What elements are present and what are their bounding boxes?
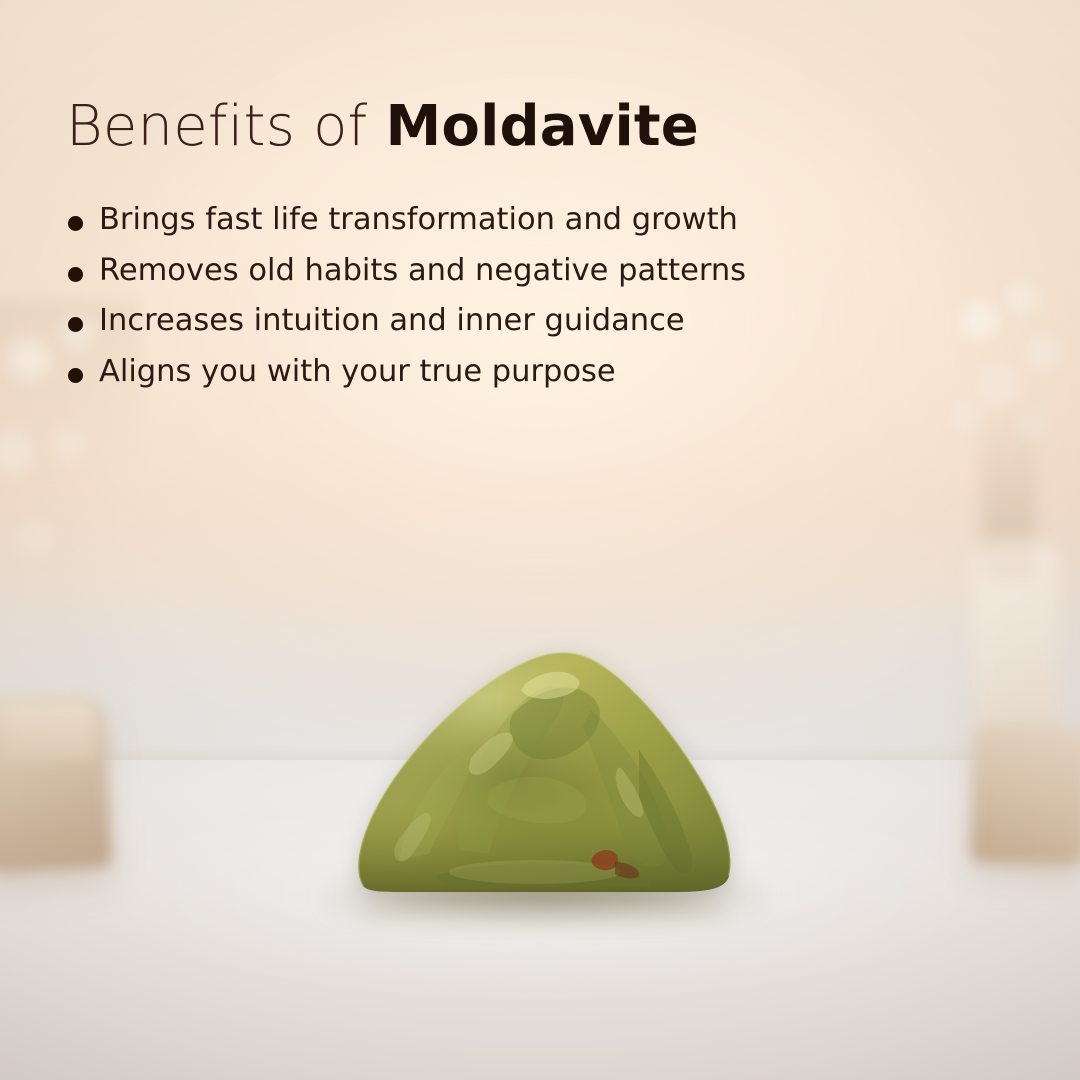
benefit-text: Brings fast life transformation and grow…	[99, 205, 738, 236]
list-item: Increases intuition and inner guidance	[68, 306, 746, 337]
benefit-text: Aligns you with your true purpose	[99, 357, 616, 388]
list-item: Aligns you with your true purpose	[68, 357, 746, 388]
bullet-dot-icon	[68, 368, 83, 383]
moldavite-stone	[339, 640, 749, 900]
bullet-dot-icon	[68, 216, 83, 231]
bullet-dot-icon	[68, 317, 83, 332]
marketing-image-canvas: Benefits of Moldavite Brings fast life t…	[0, 0, 1080, 1080]
headline-emphasis: Moldavite	[385, 94, 699, 159]
benefit-text: Increases intuition and inner guidance	[99, 306, 685, 337]
moldavite-stone-group	[339, 640, 749, 910]
benefit-text: Removes old habits and negative patterns	[99, 256, 746, 287]
bullet-dot-icon	[68, 267, 83, 282]
list-item: Removes old habits and negative patterns	[68, 256, 746, 287]
benefits-list: Brings fast life transformation and grow…	[68, 205, 746, 407]
page-title: Benefits of Moldavite	[66, 96, 699, 159]
list-item: Brings fast life transformation and grow…	[68, 205, 746, 236]
headline-prefix: Benefits of	[66, 94, 367, 159]
